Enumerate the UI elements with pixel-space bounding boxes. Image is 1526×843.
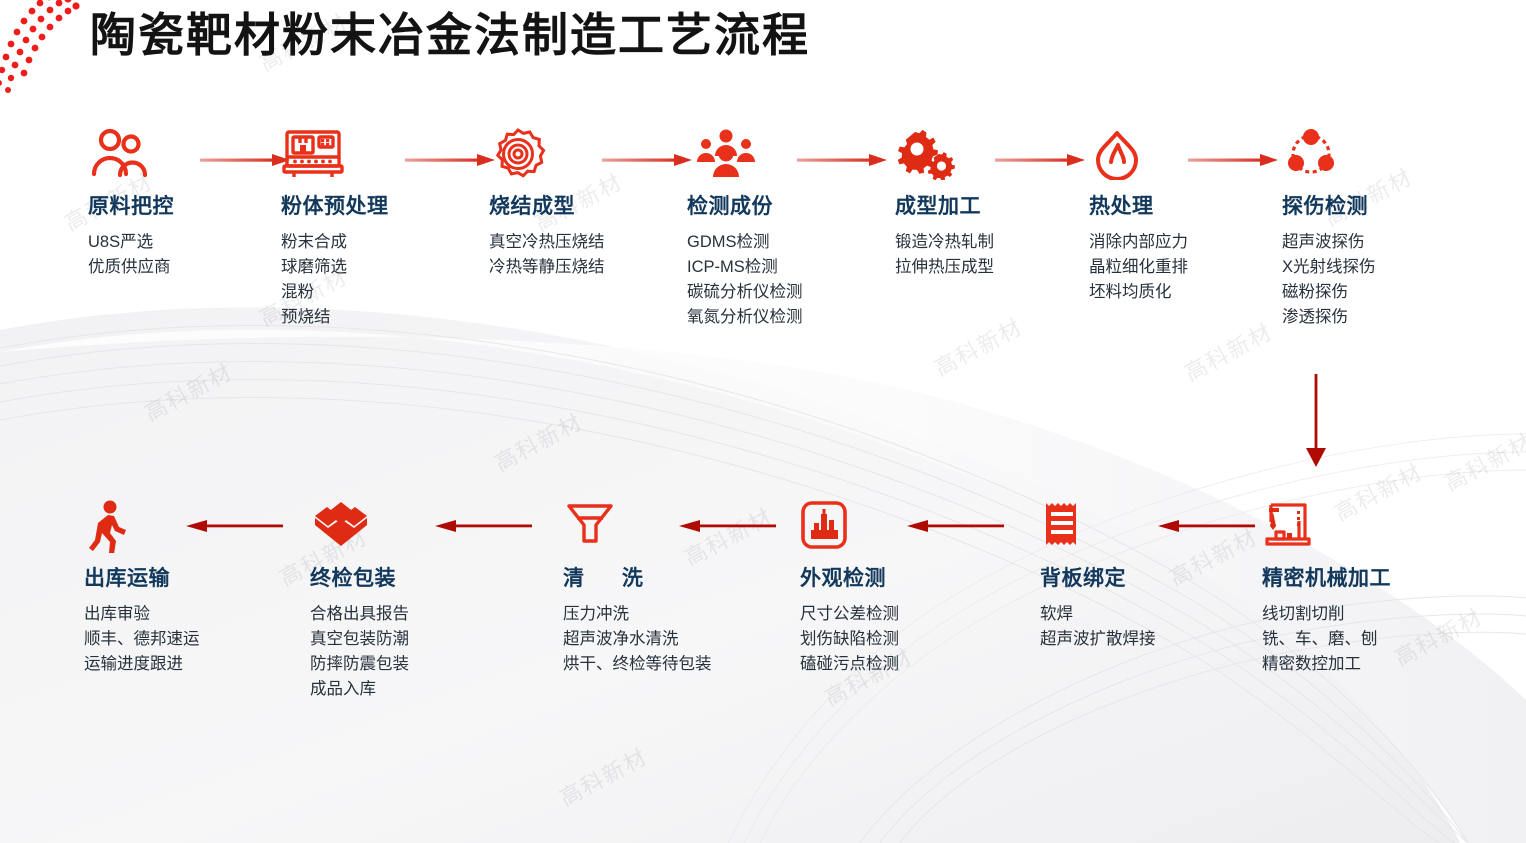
step-desc: 消除内部应力晶粒细化重排坯料均质化 [1089, 230, 1279, 305]
step-desc: 线切割切削铣、车、磨、刨精密数控加工 [1262, 602, 1452, 677]
step-title: 探伤检测 [1282, 190, 1472, 220]
machine-icon [281, 126, 471, 182]
team-icon [687, 126, 877, 182]
watermark: 高科新材 [1178, 314, 1278, 387]
step-raw-material-control[interactable]: 原料把控 U8S严选优质供应商 [88, 126, 278, 280]
step-title: 烧结成型 [489, 190, 679, 220]
step-backplate-bonding[interactable]: 背板绑定 软焊超声波扩散焊接 [1040, 498, 1230, 652]
step-title: 成型加工 [895, 190, 1085, 220]
step-title: 热处理 [1089, 190, 1279, 220]
receipt-icon [1040, 498, 1230, 554]
watermark: 高科新材 [928, 309, 1028, 382]
watermark: 高科新材 [488, 404, 588, 477]
step-sintering-forming[interactable]: 烧结成型 真空冷热压烧结冷热等静压烧结 [489, 126, 679, 280]
step-title: 检测成份 [687, 190, 877, 220]
step-powder-pretreatment[interactable]: 粉体预处理 粉末合成球磨筛选 混粉预烧结 [281, 126, 471, 330]
step-title: 终检包装 [310, 562, 500, 592]
step-desc: 尺寸公差检测划伤缺陷检测磕碰污点检测 [800, 602, 990, 677]
flame-icon [1089, 126, 1279, 182]
step-title: 背板绑定 [1040, 562, 1230, 592]
step-desc: 压力冲洗超声波净水清洗 烘干、终检等待包装 [563, 602, 753, 677]
step-title: 粉体预处理 [281, 190, 471, 220]
watermark: 高科新材 [553, 739, 653, 812]
step-desc: 锻造冷热轧制拉伸热压成型 [895, 230, 1085, 280]
watermark: 高科新材 [138, 354, 238, 427]
funnel-icon [563, 498, 753, 554]
molecule-icon [1282, 126, 1472, 182]
step-final-inspection-packaging[interactable]: 终检包装 合格出具报告真空包装防潮 防摔防震包装成品入库 [310, 498, 500, 702]
step-forming-processing[interactable]: 成型加工 锻造冷热轧制拉伸热压成型 [895, 126, 1085, 280]
step-outbound-transport[interactable]: 出库运输 出库审验顺丰、德邦速运运输进度跟进 [84, 498, 274, 677]
step-flaw-detection[interactable]: 探伤检测 超声波探伤X光射线探伤 磁粉探伤渗透探伤 [1282, 126, 1472, 330]
step-desc: 出库审验顺丰、德邦速运运输进度跟进 [84, 602, 274, 677]
page-title: 陶瓷靶材粉末冶金法制造工艺流程 [90, 4, 810, 66]
step-cleaning[interactable]: 清 洗 压力冲洗超声波净水清洗 烘干、终检等待包装 [563, 498, 753, 677]
watermark: 高科新材 [1438, 424, 1526, 497]
step-desc: 合格出具报告真空包装防潮 防摔防震包装成品入库 [310, 602, 500, 702]
step-appearance-inspection[interactable]: 外观检测 尺寸公差检测划伤缺陷检测磕碰污点检测 [800, 498, 990, 677]
walking-person-icon [84, 498, 274, 554]
step-desc: 真空冷热压烧结冷热等静压烧结 [489, 230, 679, 280]
step-heat-treatment[interactable]: 热处理 消除内部应力晶粒细化重排坯料均质化 [1089, 126, 1279, 305]
gears-icon [895, 126, 1085, 182]
step-desc: 软焊超声波扩散焊接 [1040, 602, 1230, 652]
step-desc: U8S严选优质供应商 [88, 230, 278, 280]
step-title: 精密机械加工 [1262, 562, 1452, 592]
step-precision-machining[interactable]: 精密机械加工 线切割切削铣、车、磨、刨精密数控加工 [1262, 498, 1452, 677]
step-desc: GDMS检测ICP-MS检测 碳硫分析仪检测氧氮分析仪检测 [687, 230, 877, 330]
gear-ring-icon [489, 126, 679, 182]
people-icon [88, 126, 278, 182]
cnc-machine-icon [1262, 498, 1452, 554]
open-box-icon [310, 498, 500, 554]
step-title: 出库运输 [84, 562, 274, 592]
step-title: 外观检测 [800, 562, 990, 592]
flow-arrow-down [1298, 374, 1334, 470]
step-desc: 超声波探伤X光射线探伤 磁粉探伤渗透探伤 [1282, 230, 1472, 330]
factory-icon [800, 498, 990, 554]
step-title: 清 洗 [563, 562, 753, 592]
step-title: 原料把控 [88, 190, 278, 220]
step-composition-testing[interactable]: 检测成份 GDMS检测ICP-MS检测 碳硫分析仪检测氧氮分析仪检测 [687, 126, 877, 330]
step-desc: 粉末合成球磨筛选 混粉预烧结 [281, 230, 471, 330]
